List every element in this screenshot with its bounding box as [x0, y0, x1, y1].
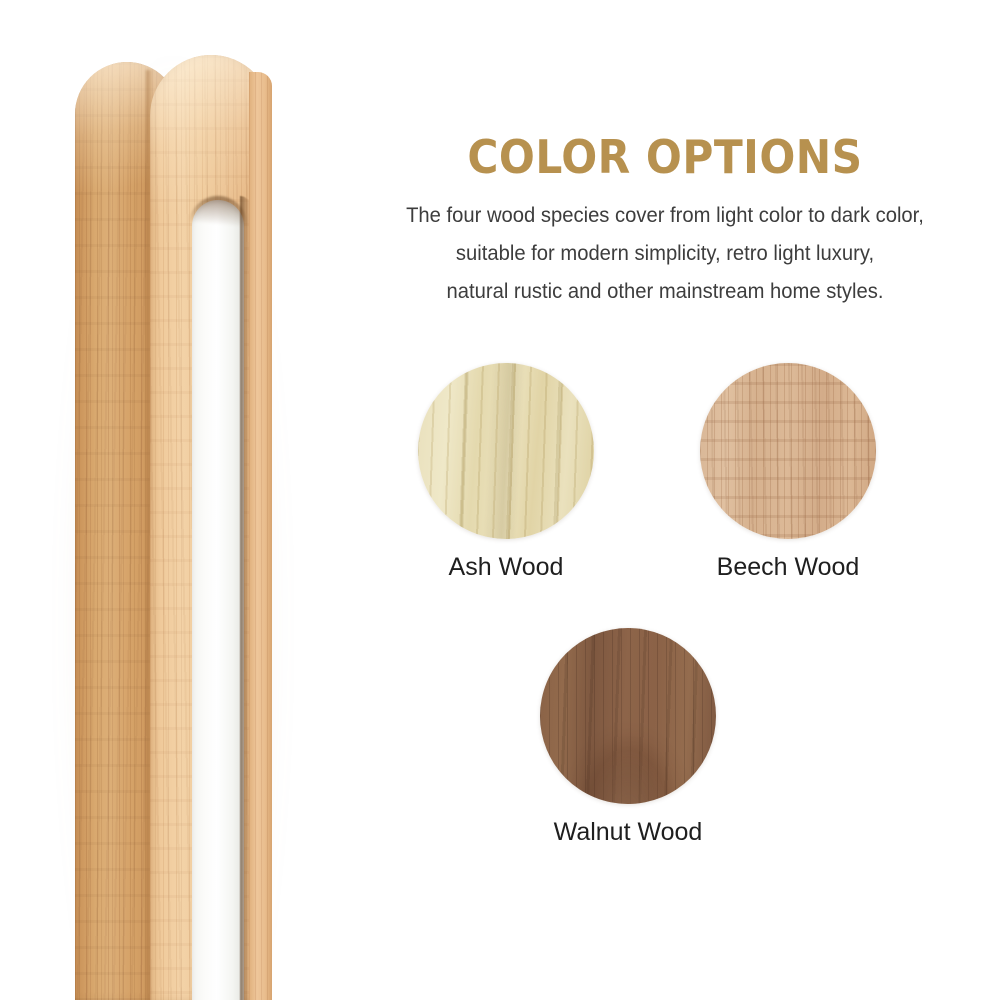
lamp-right-edge [249, 72, 272, 1000]
description-line-3: natural rustic and other mainstream home… [355, 272, 975, 310]
wood-cathedral-grain [540, 628, 716, 804]
color-options-page: COLOR OPTIONS The four wood species cove… [0, 0, 1000, 1000]
swatch-walnut-wood[interactable]: Walnut Wood [540, 628, 716, 847]
swatch-circle [540, 628, 716, 804]
product-photo [0, 0, 330, 1000]
swatch-circle [700, 363, 876, 539]
swatch-ash-wood[interactable]: Ash Wood [418, 363, 594, 582]
swatch-label: Beech Wood [700, 553, 876, 582]
description-line-1: The four wood species cover from light c… [355, 196, 975, 234]
description-line-2: suitable for modern simplicity, retro li… [355, 234, 975, 272]
swatch-beech-wood[interactable]: Beech Wood [700, 363, 876, 582]
wood-grain-texture [700, 363, 876, 539]
content-panel: COLOR OPTIONS The four wood species cove… [330, 0, 1000, 1000]
led-light-strip [192, 200, 244, 1000]
wood-grain-texture [249, 72, 272, 1000]
wood-grain-texture [418, 363, 594, 539]
swatch-label: Walnut Wood [540, 818, 716, 847]
swatch-label: Ash Wood [418, 553, 594, 582]
description-text: The four wood species cover from light c… [355, 196, 975, 310]
swatch-circle [418, 363, 594, 539]
page-title: COLOR OPTIONS [357, 130, 973, 184]
